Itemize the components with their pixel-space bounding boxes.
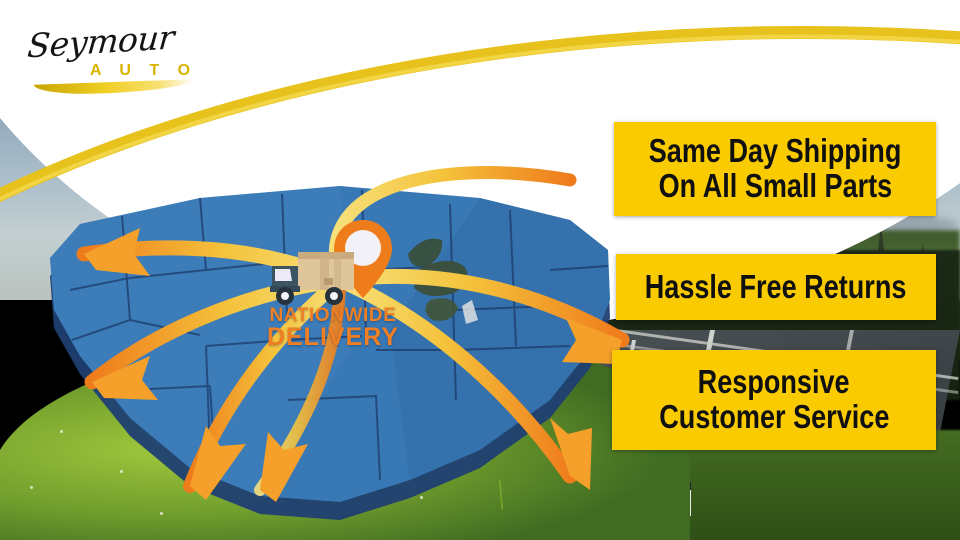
delivery-line: DELIVERY	[258, 325, 408, 351]
banner-line: Hassle Free Returns	[645, 270, 907, 305]
banner-line: Responsive	[698, 365, 850, 400]
banner-line: On All Small Parts	[658, 169, 892, 204]
banner-same-day-shipping[interactable]: Same Day Shipping On All Small Parts	[614, 122, 936, 216]
nationwide-delivery-label: NATIONWIDE DELIVERY	[258, 306, 408, 351]
banner-responsive-customer-service[interactable]: Responsive Customer Service	[612, 350, 936, 450]
promo-banner-image: Seymour A U T O	[0, 0, 960, 540]
banner-line: Customer Service	[659, 400, 889, 435]
brand-name: Seymour	[26, 18, 176, 66]
banner-line: Same Day Shipping	[649, 134, 902, 169]
logo-swish-icon	[34, 79, 194, 96]
brand-subtitle: A U T O	[90, 62, 197, 80]
brand-logo[interactable]: Seymour A U T O	[20, 14, 220, 100]
banner-hassle-free-returns[interactable]: Hassle Free Returns	[616, 254, 936, 320]
delivery-truck-icon	[268, 248, 360, 310]
